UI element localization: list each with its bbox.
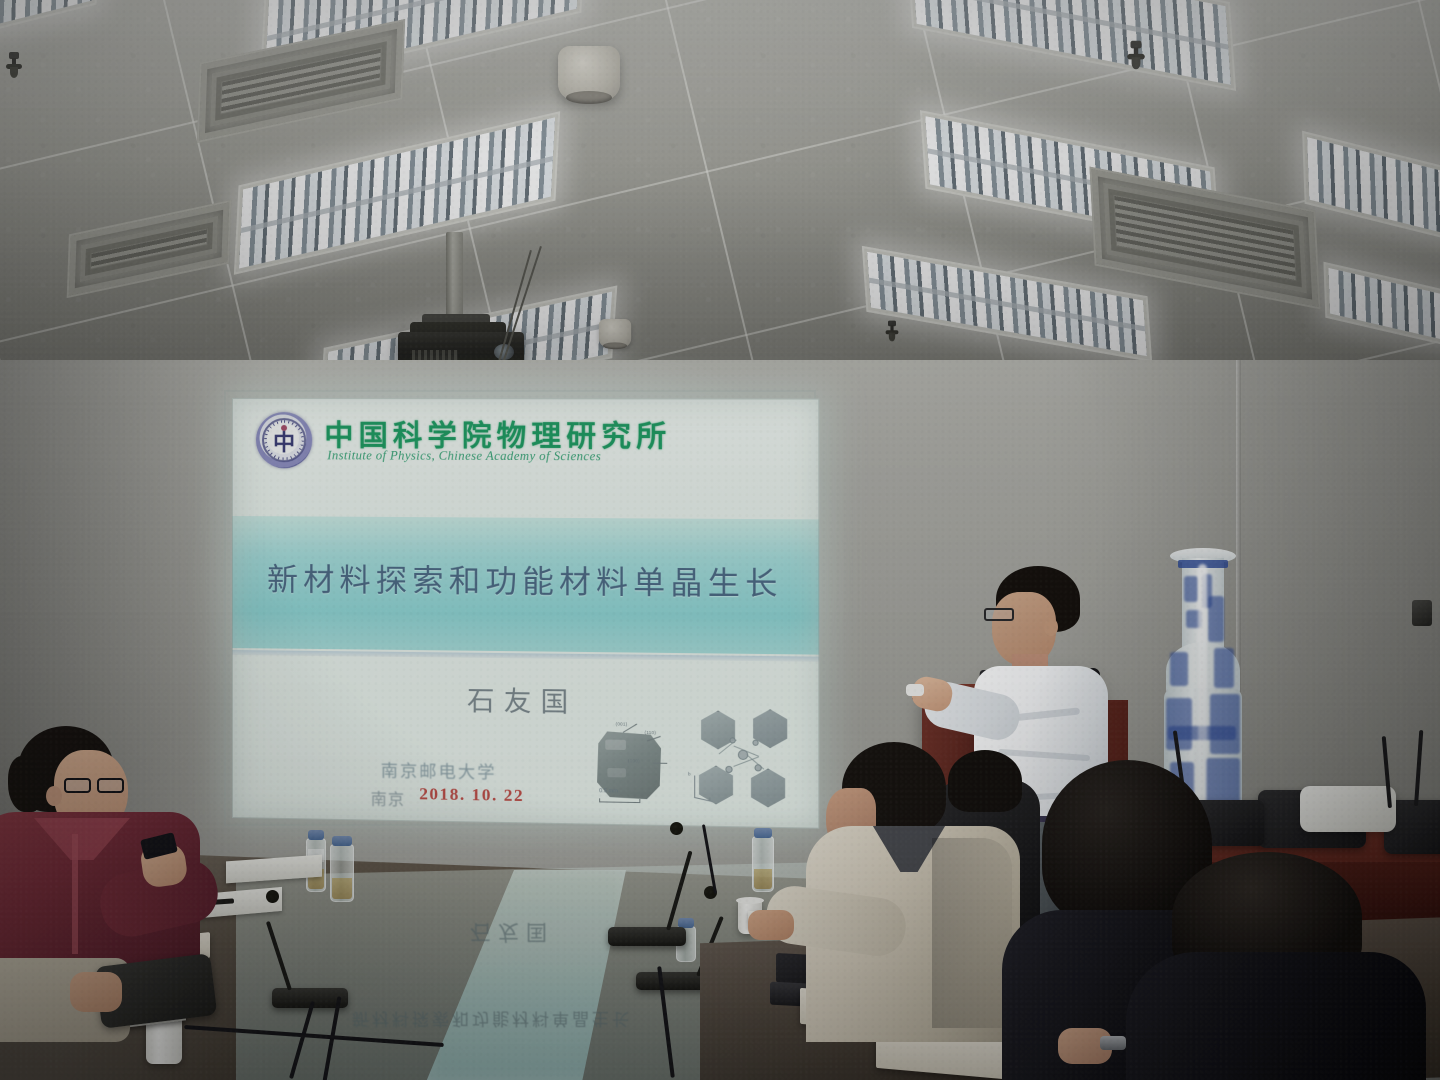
crystal-structure-figure: b c [688,708,800,816]
wristwatch [1100,1036,1126,1050]
slide-place: 南京 [371,785,405,810]
table-reflection-speaker: 石友国 [470,918,554,948]
crystal-facet-label: (110) [644,730,656,735]
water-bottle [752,828,774,892]
water-bottle [330,836,354,902]
presentation-clicker [906,684,924,696]
crystal-photo-figure: (001) (110) (100) 0.5 mm [593,721,667,806]
slide-title-band: 新材料探索和功能材料单晶生长 [232,516,819,655]
crystal-scale-label: 0.5 mm [599,788,618,794]
structure-axes: b c [688,771,715,804]
crystal-facet-label: (001) [616,721,628,726]
attendee-maroon-jacket [0,726,220,1026]
attendee-jacket [1126,952,1426,1080]
presenter-glasses [984,608,1014,621]
slide-org-name-en: Institute of Physics, Chinese Academy of… [327,448,601,464]
attendee-khaki-jacket [812,742,1022,1042]
projected-slide: 中 中国科学院物理研究所 Institute of Physics, Chine… [232,398,819,829]
white-jacket [1300,786,1396,832]
institute-seal-icon: 中 [256,412,312,468]
attendee-hand [748,910,794,940]
ceiling [0,0,1440,392]
crystal-facet-label: (100) [628,758,640,763]
attendee-foreground [1152,852,1402,1080]
photo-stage: 中 中国科学院物理研究所 Institute of Physics, Chine… [0,0,1440,1080]
slide-title: 新材料探索和功能材料单晶生长 [232,554,819,604]
slide-affiliation: 南京邮电大学 [381,756,497,783]
wall-speaker-icon [1412,600,1432,626]
slide-header: 中 中国科学院物理研究所 Institute of Physics, Chine… [232,398,819,511]
slide-date: 2018. 10. 22 [419,784,524,806]
attendee-glasses [64,778,126,794]
table-reflection-title: 新材料探索和功能材料单晶生长 [352,1008,632,1033]
gooseneck-microphone [608,894,686,946]
